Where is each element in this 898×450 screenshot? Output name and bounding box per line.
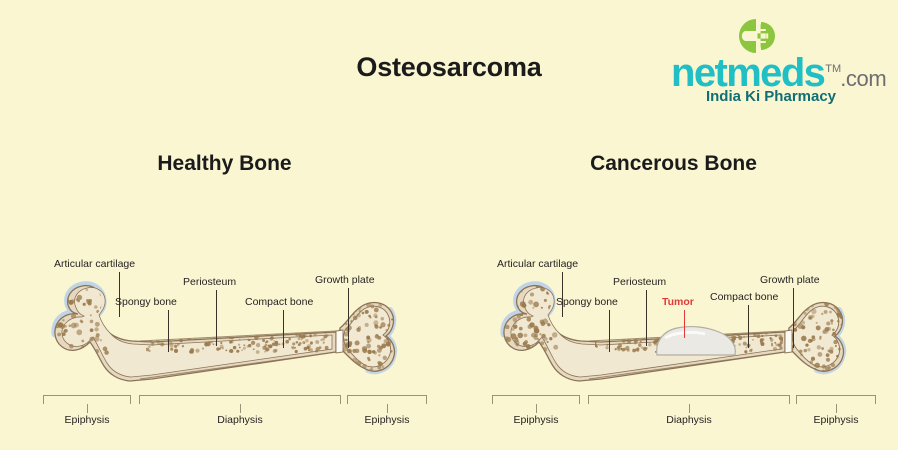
region-label-cancerous-diaphysis: Diaphysis xyxy=(629,414,749,426)
region-label-healthy-epiphysis-right: Epiphysis xyxy=(327,414,447,426)
region-label-healthy-diaphysis: Diaphysis xyxy=(180,414,300,426)
region-bracket-cancerous-epiphysis-right xyxy=(796,395,876,404)
callout-label-cancerous-tumor: Tumor xyxy=(662,296,694,308)
bone-healthy xyxy=(0,0,449,450)
callout-label-cancerous-growth-plate: Growth plate xyxy=(760,274,820,286)
callout-label-healthy-periosteum: Periosteum xyxy=(183,276,236,288)
callout-label-cancerous-spongy-bone: Spongy bone xyxy=(556,296,618,308)
callout-leader-cancerous-periosteum xyxy=(646,290,647,346)
callout-leader-healthy-compact-bone xyxy=(283,310,284,348)
region-stem-cancerous-epiphysis-left xyxy=(536,404,537,413)
callout-leader-healthy-spongy-bone xyxy=(168,310,169,352)
callout-leader-cancerous-spongy-bone xyxy=(609,310,610,352)
region-label-cancerous-epiphysis-right: Epiphysis xyxy=(776,414,896,426)
callout-leader-healthy-periosteum xyxy=(216,290,217,346)
callout-leader-healthy-articular-cartilage xyxy=(119,272,120,317)
region-stem-cancerous-diaphysis xyxy=(689,404,690,413)
callout-leader-cancerous-compact-bone xyxy=(748,305,749,348)
region-label-cancerous-epiphysis-left: Epiphysis xyxy=(476,414,596,426)
region-stem-healthy-epiphysis-left xyxy=(87,404,88,413)
bone-cancerous xyxy=(449,0,898,450)
tumor-mass-shape xyxy=(645,318,755,378)
callout-label-cancerous-periosteum: Periosteum xyxy=(613,276,666,288)
region-stem-cancerous-epiphysis-right xyxy=(836,404,837,413)
region-bracket-healthy-diaphysis xyxy=(139,395,341,404)
region-bracket-healthy-epiphysis-left xyxy=(43,395,131,404)
callout-leader-healthy-growth-plate xyxy=(348,288,349,348)
infographic-canvas: Osteosarcoma netmedsTM.com India Ki Phar… xyxy=(0,0,898,450)
region-bracket-cancerous-diaphysis xyxy=(588,395,790,404)
callout-leader-cancerous-articular-cartilage xyxy=(562,272,563,317)
callout-label-healthy-growth-plate: Growth plate xyxy=(315,274,375,286)
callout-label-healthy-spongy-bone: Spongy bone xyxy=(115,296,177,308)
callout-label-cancerous-articular-cartilage: Articular cartilage xyxy=(497,258,578,270)
callout-label-healthy-compact-bone: Compact bone xyxy=(245,296,313,308)
callout-leader-cancerous-tumor xyxy=(684,310,685,338)
region-stem-healthy-diaphysis xyxy=(240,404,241,413)
region-bracket-cancerous-epiphysis-left xyxy=(492,395,580,404)
region-bracket-healthy-epiphysis-right xyxy=(347,395,427,404)
region-stem-healthy-epiphysis-right xyxy=(387,404,388,413)
callout-leader-cancerous-growth-plate xyxy=(793,288,794,348)
callout-label-healthy-articular-cartilage: Articular cartilage xyxy=(54,258,135,270)
region-label-healthy-epiphysis-left: Epiphysis xyxy=(27,414,147,426)
callout-label-cancerous-compact-bone: Compact bone xyxy=(710,291,778,303)
